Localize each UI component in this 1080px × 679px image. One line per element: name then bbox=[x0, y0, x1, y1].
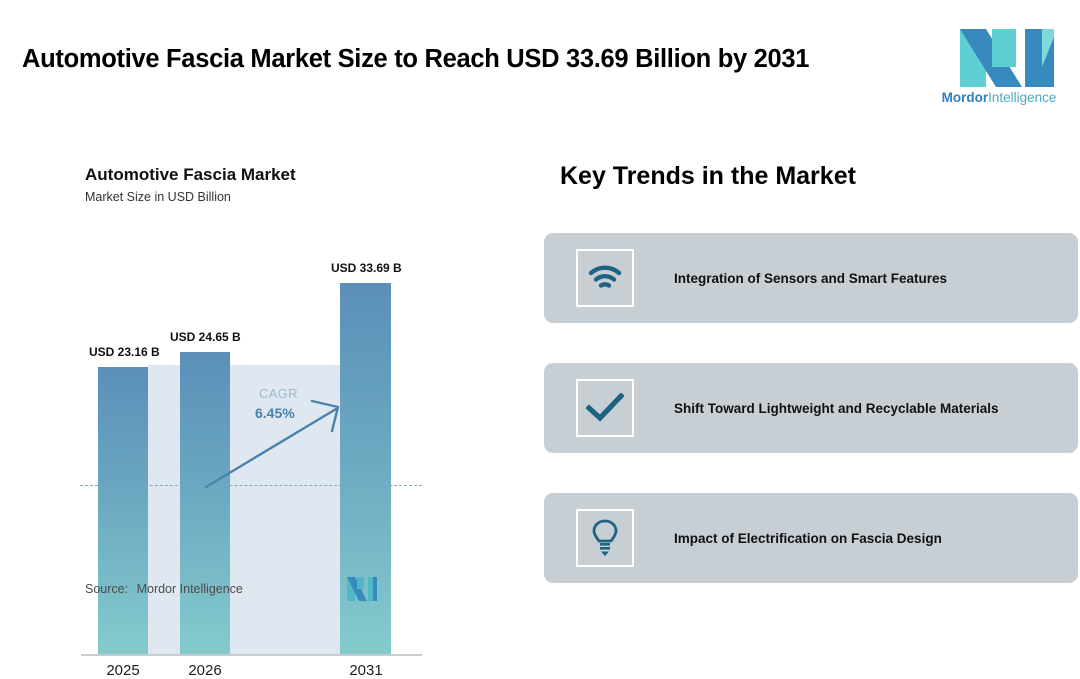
cagr-label: CAGR bbox=[259, 386, 298, 401]
x-axis-line bbox=[81, 654, 422, 656]
column-background-1 bbox=[148, 365, 180, 654]
bar-value-2026: USD 24.65 B bbox=[170, 330, 241, 344]
axis-tick-2026: 2026 bbox=[175, 662, 235, 679]
trend-icon-box bbox=[576, 249, 634, 307]
page-header: Automotive Fascia Market Size to Reach U… bbox=[0, 0, 1080, 120]
bar-2025 bbox=[98, 367, 148, 654]
key-trends-heading: Key Trends in the Market bbox=[560, 162, 856, 191]
bar-value-2025: USD 23.16 B bbox=[89, 345, 160, 359]
trend-card[interactable]: Shift Toward Lightweight and Recyclable … bbox=[544, 363, 1078, 453]
chart-panel: Automotive Fascia Market Market Size in … bbox=[0, 120, 500, 606]
trend-label: Impact of Electrification on Fascia Desi… bbox=[674, 493, 942, 583]
bar-value-2031: USD 33.69 B bbox=[331, 261, 402, 275]
mordor-logo-mark bbox=[930, 27, 1068, 89]
mordor-intelligence-logo: MordorIntelligence bbox=[930, 27, 1068, 109]
wifi-icon bbox=[588, 265, 622, 291]
checkmark-icon bbox=[586, 393, 624, 423]
source-label: Source: bbox=[85, 582, 128, 596]
source-mordor-logo-icon bbox=[345, 576, 379, 602]
bar-chart-plot: USD 23.16 B USD 24.65 B USD 33.69 B CAGR… bbox=[0, 120, 500, 606]
lightbulb-icon bbox=[591, 519, 619, 557]
axis-tick-2031: 2031 bbox=[336, 662, 396, 679]
chart-source: Source: Mordor Intelligence bbox=[85, 582, 243, 596]
cagr-value: 6.45% bbox=[255, 405, 295, 421]
wordmark-mordor: Mordor bbox=[942, 90, 989, 105]
axis-tick-2025: 2025 bbox=[93, 662, 153, 679]
trend-label: Shift Toward Lightweight and Recyclable … bbox=[674, 363, 999, 453]
key-trends-panel: Key Trends in the Market Integration of … bbox=[540, 120, 1080, 606]
trend-icon-box bbox=[576, 509, 634, 567]
mordor-logo-wordmark: MordorIntelligence bbox=[930, 91, 1068, 105]
trend-card[interactable]: Integration of Sensors and Smart Feature… bbox=[544, 233, 1078, 323]
trend-label: Integration of Sensors and Smart Feature… bbox=[674, 233, 947, 323]
trend-card[interactable]: Impact of Electrification on Fascia Desi… bbox=[544, 493, 1078, 583]
trend-icon-box bbox=[576, 379, 634, 437]
wordmark-intelligence: Intelligence bbox=[988, 90, 1056, 105]
page-title: Automotive Fascia Market Size to Reach U… bbox=[22, 45, 809, 74]
source-name: Mordor Intelligence bbox=[137, 582, 243, 596]
